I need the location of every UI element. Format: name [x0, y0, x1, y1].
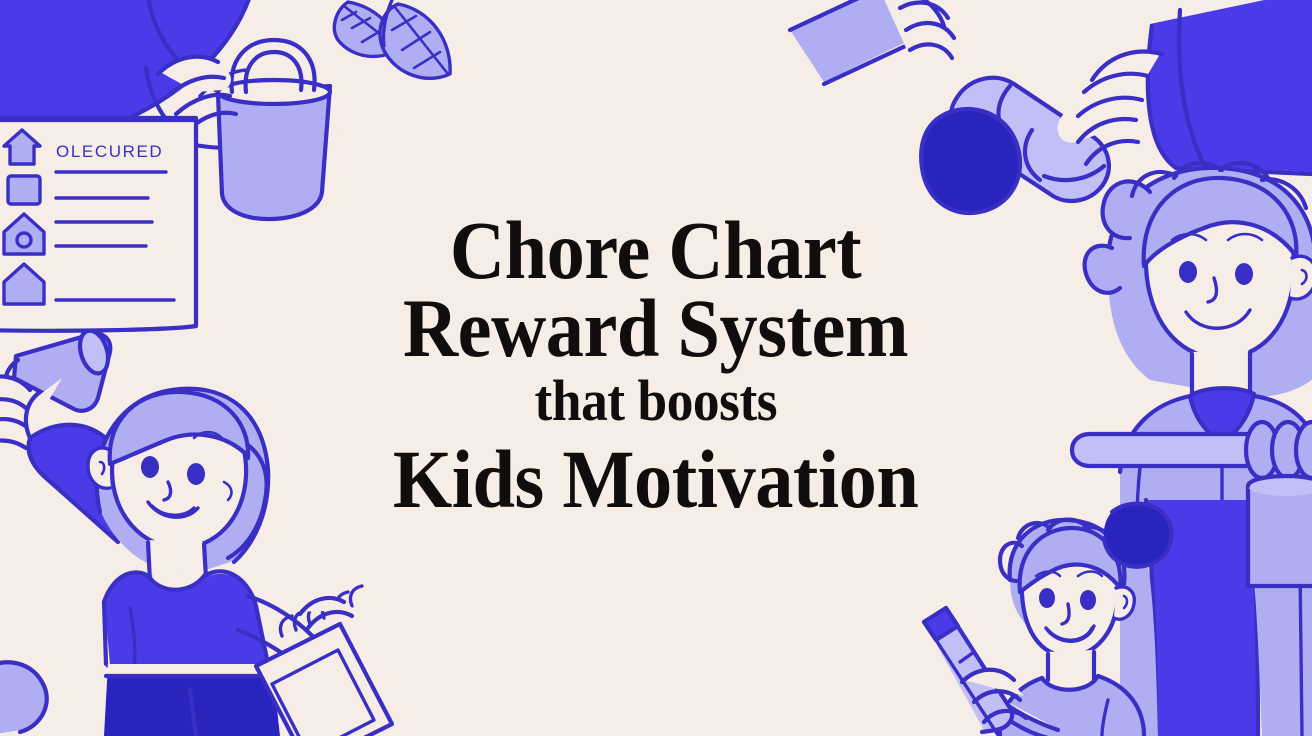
headline-block: Chore Chart Reward System that boosts Ki…: [0, 0, 1312, 736]
headline-line-2: Reward System: [403, 289, 908, 367]
headline-line-4: Kids Motivation: [393, 435, 919, 525]
poster-canvas: .s{stroke:#3A2FC4;stroke-width:4.2;fill:…: [0, 0, 1312, 736]
headline-line-3: that boosts: [535, 367, 778, 435]
headline-line-1: Chore Chart: [450, 211, 861, 289]
